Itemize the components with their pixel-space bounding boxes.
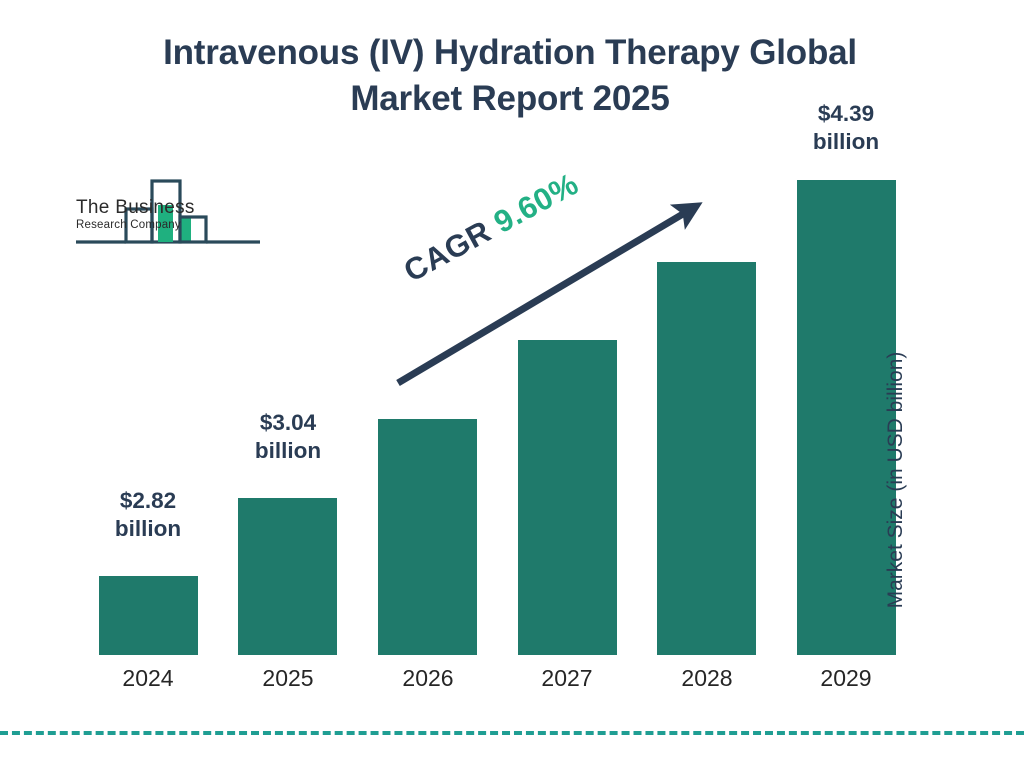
- x-tick-2025: 2025: [228, 665, 348, 692]
- x-tick-2027: 2027: [507, 665, 627, 692]
- growth-trend-arrow: [380, 185, 720, 400]
- bar-2024: [99, 576, 198, 655]
- bar-label-2024: $2.82 billion: [88, 487, 208, 543]
- bar-2025: [238, 498, 337, 655]
- y-axis-label: Market Size (in USD billion): [884, 300, 908, 660]
- bar-label-2029-value: $4.39: [786, 100, 906, 128]
- bar-label-2025-unit: billion: [228, 437, 348, 465]
- bar-label-2025: $3.04 billion: [228, 409, 348, 465]
- dashed-divider: [0, 731, 1024, 735]
- x-tick-2029: 2029: [786, 665, 906, 692]
- x-tick-2026: 2026: [368, 665, 488, 692]
- x-tick-2024: 2024: [88, 665, 208, 692]
- x-tick-2028: 2028: [647, 665, 767, 692]
- bar-label-2025-value: $3.04: [228, 409, 348, 437]
- bar-2029: [797, 180, 896, 655]
- bar-2026: [378, 419, 477, 655]
- bar-label-2024-value: $2.82: [88, 487, 208, 515]
- bar-label-2024-unit: billion: [88, 515, 208, 543]
- bar-label-2029-unit: billion: [786, 128, 906, 156]
- chart-page: Intravenous (IV) Hydration Therapy Globa…: [0, 0, 1024, 768]
- bar-label-2029: $4.39 billion: [786, 100, 906, 156]
